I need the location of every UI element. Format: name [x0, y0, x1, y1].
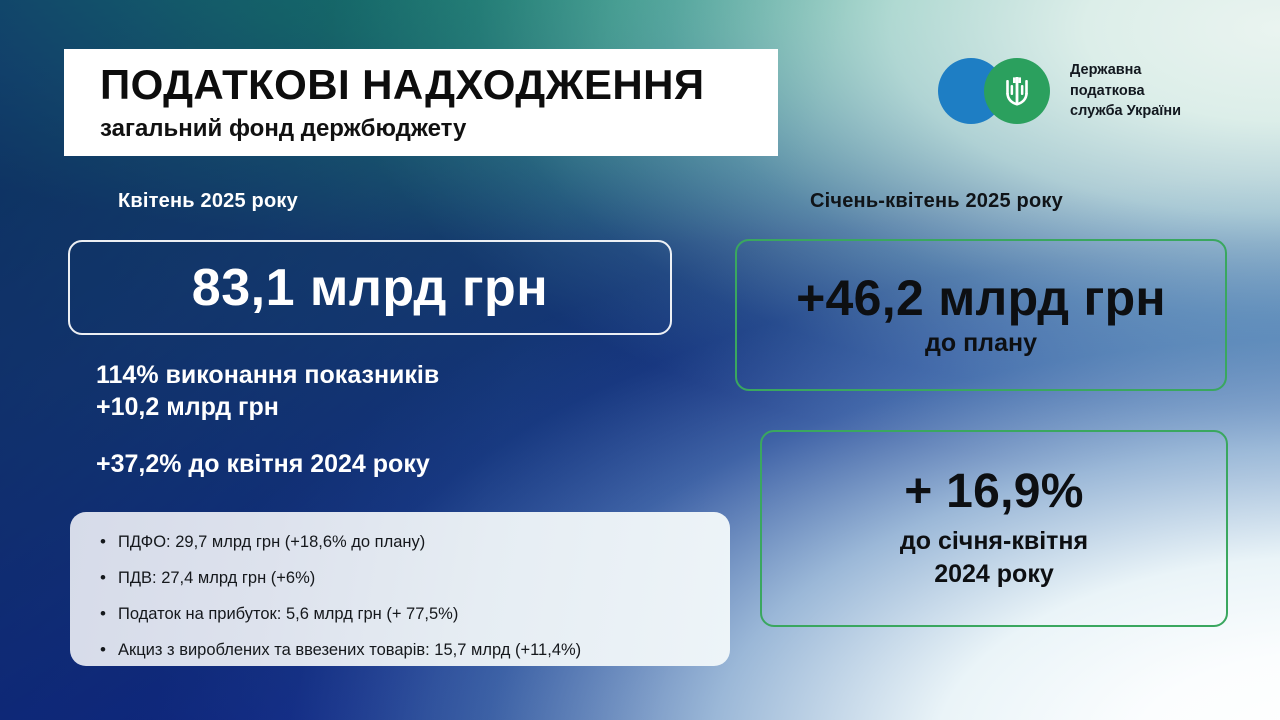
- monthly-total-card: 83,1 млрд грн: [68, 240, 672, 335]
- ytd-over-plan-card: +46,2 млрд грн до плану: [735, 239, 1227, 391]
- page-subtitle: загальний фонд держбюджету: [100, 116, 778, 141]
- left-period-header: Квітень 2025 року: [118, 190, 298, 213]
- logo-wordmark: Державна податкова служба України: [1070, 60, 1181, 122]
- logo-line-2: податкова: [1070, 81, 1181, 102]
- left-stats-group: 114% виконання показників +10,2 млрд грн…: [96, 360, 696, 481]
- stat-over-plan-amount: +10,2 млрд грн: [96, 392, 696, 424]
- logo-circles: [938, 58, 1058, 124]
- title-panel: ПОДАТКОВІ НАДХОДЖЕННЯ загальний фонд дер…: [64, 49, 778, 156]
- ytd-growth-caption: до січня-квітня 2024 року: [900, 525, 1088, 591]
- green-circle-trident-icon: [984, 58, 1050, 124]
- stat-yoy-growth: +37,2% до квітня 2024 року: [96, 449, 696, 481]
- ytd-over-plan-caption: до плану: [925, 329, 1037, 358]
- list-item: Податок на прибуток: 5,6 млрд грн (+ 77,…: [118, 604, 704, 626]
- ytd-growth-caption-line-1: до січня-квітня: [900, 525, 1088, 558]
- right-period-header: Січень-квітень 2025 року: [810, 190, 1063, 213]
- stat-plan-completion: 114% виконання показників: [96, 360, 696, 392]
- tax-breakdown-list: ПДФО: 29,7 млрд грн (+18,6% до плану) ПД…: [100, 532, 704, 662]
- logo-line-3: служба України: [1070, 101, 1181, 122]
- trident-icon: [1004, 74, 1030, 108]
- infographic-canvas: ПОДАТКОВІ НАДХОДЖЕННЯ загальний фонд дер…: [0, 0, 1280, 720]
- list-item: ПДФО: 29,7 млрд грн (+18,6% до плану): [118, 532, 704, 554]
- tax-breakdown-panel: ПДФО: 29,7 млрд грн (+18,6% до плану) ПД…: [70, 512, 730, 666]
- page-title: ПОДАТКОВІ НАДХОДЖЕННЯ: [100, 64, 778, 107]
- monthly-total-value: 83,1 млрд грн: [192, 258, 548, 318]
- organization-logo: Державна податкова служба України: [938, 58, 1181, 124]
- ytd-growth-caption-line-2: 2024 року: [900, 558, 1088, 591]
- ytd-growth-value: + 16,9%: [904, 466, 1084, 518]
- logo-line-1: Державна: [1070, 60, 1181, 81]
- list-item: Акциз з вироблених та ввезених товарів: …: [118, 640, 704, 662]
- list-item: ПДВ: 27,4 млрд грн (+6%): [118, 568, 704, 590]
- ytd-over-plan-value: +46,2 млрд грн: [796, 272, 1166, 325]
- ytd-growth-card: + 16,9% до січня-квітня 2024 року: [760, 430, 1228, 627]
